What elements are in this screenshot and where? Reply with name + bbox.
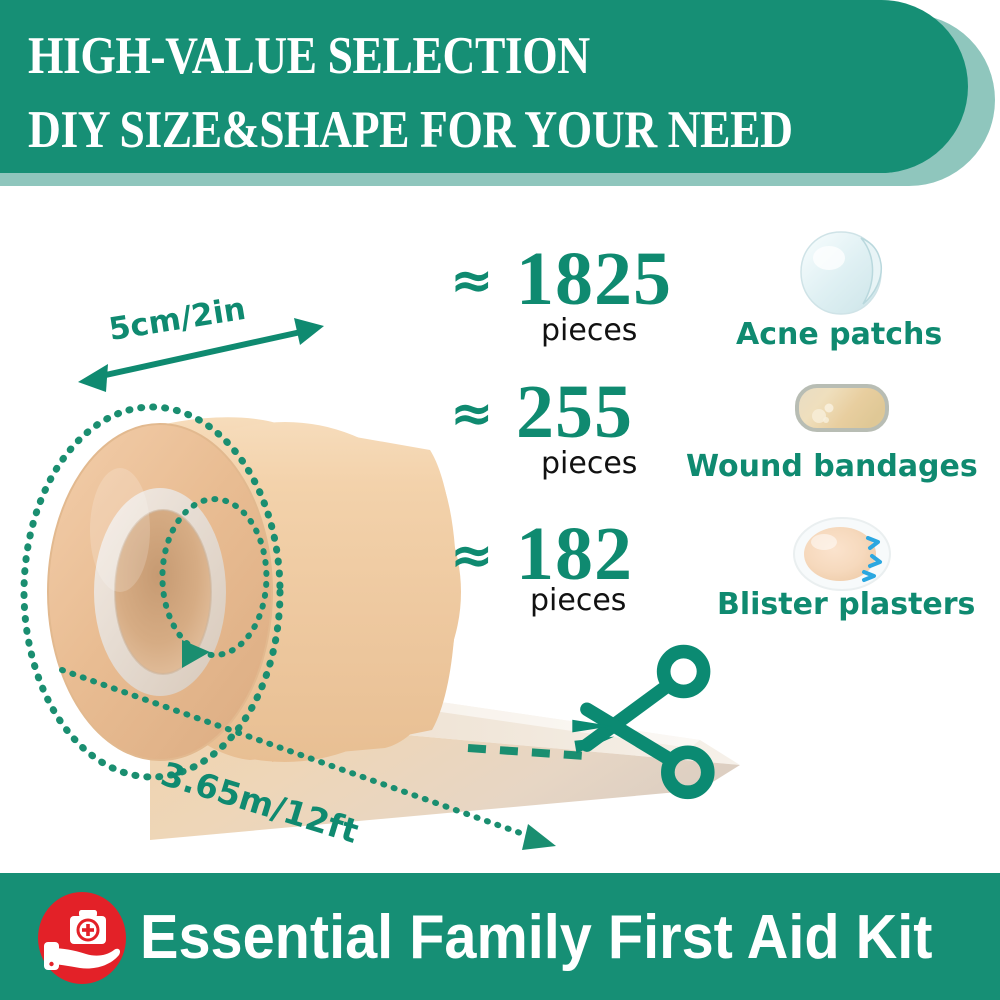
first-aid-hand-icon [34, 890, 130, 986]
footer-tagline: Essential Family First Aid Kit [140, 896, 932, 980]
count-number-3: 182 [516, 516, 633, 592]
product-label-acne-patchs: Acne patchs [736, 318, 942, 352]
tape-roll-illustration [0, 200, 820, 880]
acne-patch-icon [789, 228, 899, 325]
count-unit-3: pieces [530, 586, 626, 616]
count-number-1: 1825 [516, 241, 672, 317]
approx-symbol-2: ≈ [450, 388, 494, 440]
product-label-wound-bandages: Wound bandages [686, 450, 978, 484]
product-infographic: HIGH-VALUE SELECTION DIY SIZE&SHAPE FOR … [0, 0, 1000, 1000]
approx-symbol-1: ≈ [450, 255, 494, 307]
count-number-2: 255 [516, 374, 633, 450]
header-headline-secondary: DIY SIZE&SHAPE FOR YOUR NEED [28, 99, 836, 161]
approx-symbol-3: ≈ [450, 530, 494, 582]
header-headline-primary: HIGH-VALUE SELECTION [28, 25, 836, 87]
count-unit-1: pieces [541, 316, 637, 346]
product-label-blister-plasters: Blister plasters [717, 588, 975, 622]
length-arrowhead [522, 824, 556, 850]
wound-bandage-icon [793, 380, 891, 441]
header-text-block: HIGH-VALUE SELECTION DIY SIZE&SHAPE FOR … [28, 12, 968, 161]
count-unit-2: pieces [541, 449, 637, 479]
